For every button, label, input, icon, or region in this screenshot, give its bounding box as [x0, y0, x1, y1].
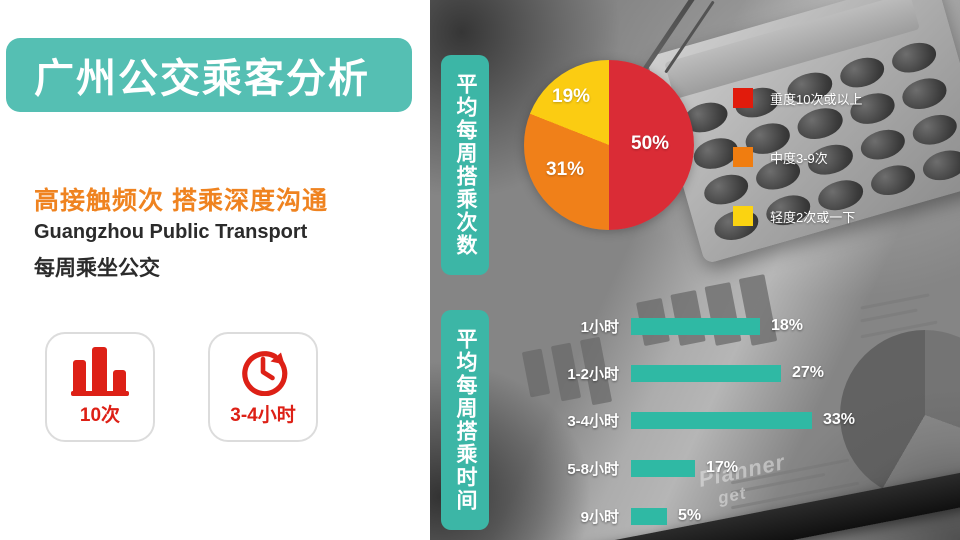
- bar-track: [631, 365, 781, 382]
- legend-item: 中度3-9次: [733, 147, 933, 167]
- bar-row: 1小时 18%: [500, 313, 940, 339]
- stat-card-duration[interactable]: 3-4小时: [208, 332, 318, 442]
- bar-row: 9小时 5%: [500, 503, 940, 529]
- subtitle-chinese: 每周乘坐公交: [34, 252, 160, 282]
- legend-swatch-light: [733, 206, 753, 226]
- page-title: 广州公交乘客分析: [34, 46, 370, 104]
- section-label-frequency: 平均每周搭乘次数: [441, 55, 489, 275]
- bar-category-label: 3-4小时: [500, 410, 631, 431]
- bar-fill: [631, 318, 760, 335]
- pie-slice-label-medium: 31%: [546, 159, 584, 181]
- section-label-text: 平均每周搭乘次数: [454, 73, 476, 257]
- bar-value-label: 18%: [771, 317, 803, 335]
- bar-category-label: 1小时: [500, 316, 631, 337]
- bar-fill: [631, 365, 781, 382]
- headline-text: 高接触频次 搭乘深度沟通: [34, 181, 328, 217]
- bar-row: 3-4小时 33%: [500, 407, 940, 433]
- bar-fill: [631, 508, 667, 525]
- subtitle-english: Guangzhou Public Transport: [34, 221, 307, 244]
- bar-track: [631, 318, 760, 335]
- pie-slice-label-light: 19%: [552, 86, 590, 108]
- stat-card-frequency[interactable]: 10次: [45, 332, 155, 442]
- bar-row: 1-2小时 27%: [500, 360, 940, 386]
- bar-track: [631, 508, 667, 525]
- slide-root: Planner get 广州公交乘客分析 高接触频次 搭乘深度沟通 Guangz…: [0, 0, 960, 540]
- bar-track: [631, 460, 695, 477]
- bar-category-label: 9小时: [500, 506, 631, 527]
- bar-value-label: 27%: [792, 364, 824, 382]
- legend-item: 重度10次或以上: [733, 88, 933, 108]
- clock-refresh-icon: [237, 348, 289, 396]
- bar-value-label: 5%: [678, 507, 701, 525]
- stat-card-value: 10次: [80, 400, 120, 427]
- legend-label: 中度3-9次: [770, 148, 828, 167]
- legend-swatch-heavy: [733, 88, 753, 108]
- bar-fill: [631, 412, 812, 429]
- section-label-text: 平均每周搭乘时间: [454, 328, 476, 512]
- bar-row: 5-8小时 17%: [500, 455, 940, 481]
- bar-value-label: 33%: [823, 411, 855, 429]
- legend-swatch-medium: [733, 147, 753, 167]
- bar-category-label: 1-2小时: [500, 363, 631, 384]
- bar-value-label: 17%: [706, 459, 738, 477]
- bar-chart-icon: [71, 348, 129, 396]
- bar-fill: [631, 460, 695, 477]
- duration-bar-chart: 1小时 18% 1-2小时 27% 3-4小时 33% 5-8小时 17% 9小…: [500, 305, 940, 535]
- legend-label: 轻度2次或一下: [770, 207, 855, 226]
- legend-label: 重度10次或以上: [770, 89, 862, 108]
- pie-legend: 重度10次或以上 中度3-9次 轻度2次或一下: [733, 88, 933, 265]
- section-label-duration: 平均每周搭乘时间: [441, 310, 489, 530]
- title-banner: 广州公交乘客分析: [6, 38, 412, 112]
- bar-category-label: 5-8小时: [500, 458, 631, 479]
- pie-slice-label-heavy: 50%: [631, 133, 669, 155]
- stat-card-value: 3-4小时: [230, 400, 295, 427]
- bar-track: [631, 412, 812, 429]
- legend-item: 轻度2次或一下: [733, 206, 933, 226]
